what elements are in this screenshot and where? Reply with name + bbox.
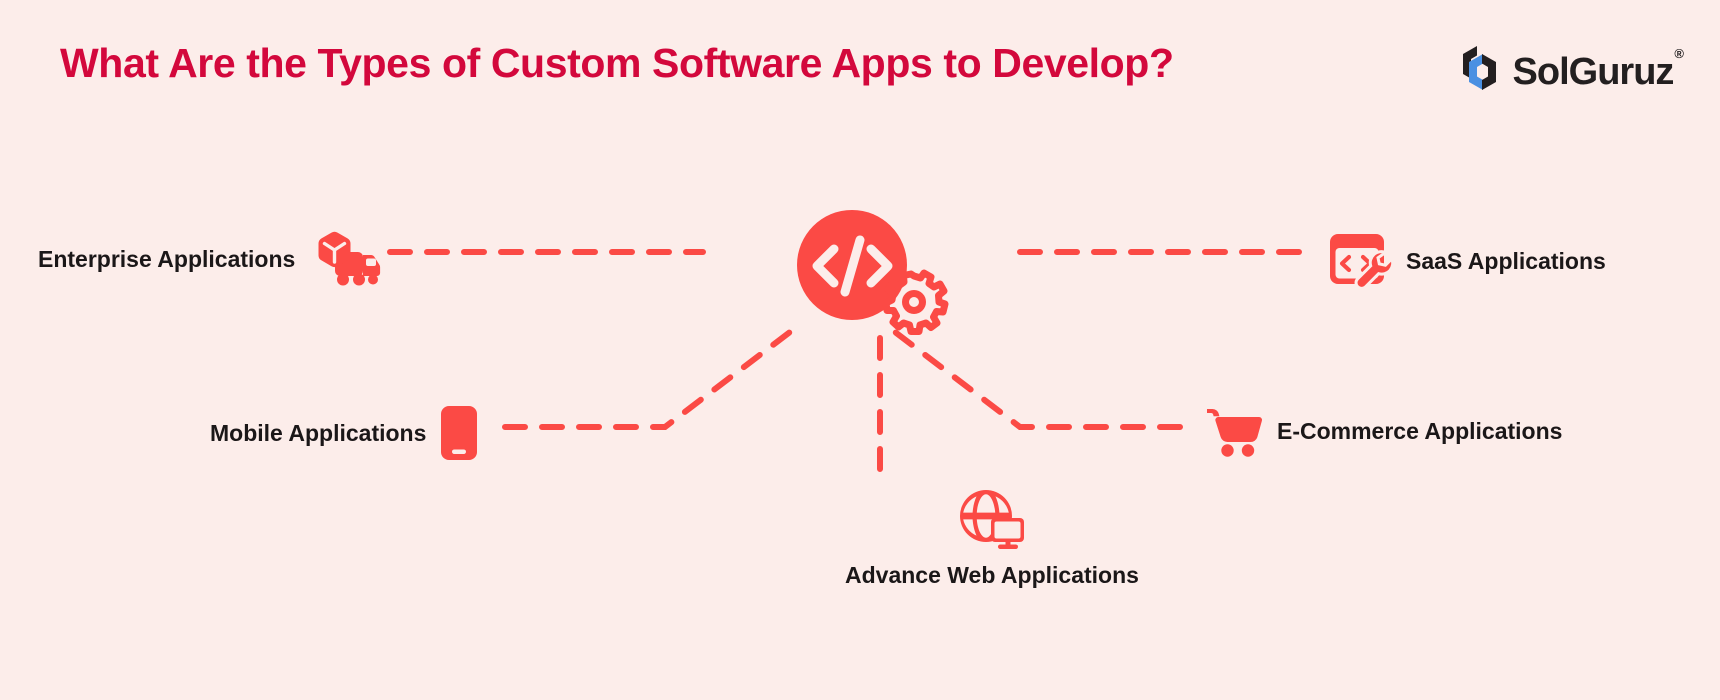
infographic-canvas: What Are the Types of Custom Software Ap… xyxy=(0,0,1720,700)
registered-trademark-symbol: ® xyxy=(1674,46,1683,61)
mobile-phone-icon xyxy=(440,405,478,461)
types-of-apps-diagram: Enterprise Applications xyxy=(0,110,1720,700)
custom-software-hub xyxy=(790,210,970,340)
connector-mobile xyxy=(505,332,790,427)
node-mobile-applications[interactable]: Mobile Applications xyxy=(210,405,478,461)
solguruz-hexagon-swoosh-logo-icon xyxy=(1455,44,1507,100)
node-label-saas: SaaS Applications xyxy=(1406,248,1606,275)
brand-wordmark: SolGuruz® xyxy=(1513,53,1682,91)
node-label-mobile: Mobile Applications xyxy=(210,420,426,447)
code-window-wrench-icon xyxy=(1330,230,1392,292)
connector-ecommerce xyxy=(895,332,1180,427)
node-label-ecommerce: E-Commerce Applications xyxy=(1277,418,1562,445)
delivery-truck-icon xyxy=(309,230,381,288)
node-label-web: Advance Web Applications xyxy=(845,562,1139,589)
node-ecommerce-applications[interactable]: E-Commerce Applications xyxy=(1205,405,1562,457)
globe-monitor-icon xyxy=(960,490,1024,550)
node-advance-web-applications[interactable]: Advance Web Applications xyxy=(845,490,1139,589)
node-enterprise-applications[interactable]: Enterprise Applications xyxy=(38,230,381,288)
shopping-cart-icon xyxy=(1205,405,1263,457)
brand-logo: SolGuruz® xyxy=(1455,44,1682,100)
page-title: What Are the Types of Custom Software Ap… xyxy=(60,40,1174,87)
brand-name-text: SolGuruz xyxy=(1513,51,1674,93)
node-saas-applications[interactable]: SaaS Applications xyxy=(1330,230,1606,292)
node-label-enterprise: Enterprise Applications xyxy=(38,246,295,273)
gear-icon xyxy=(886,273,945,332)
